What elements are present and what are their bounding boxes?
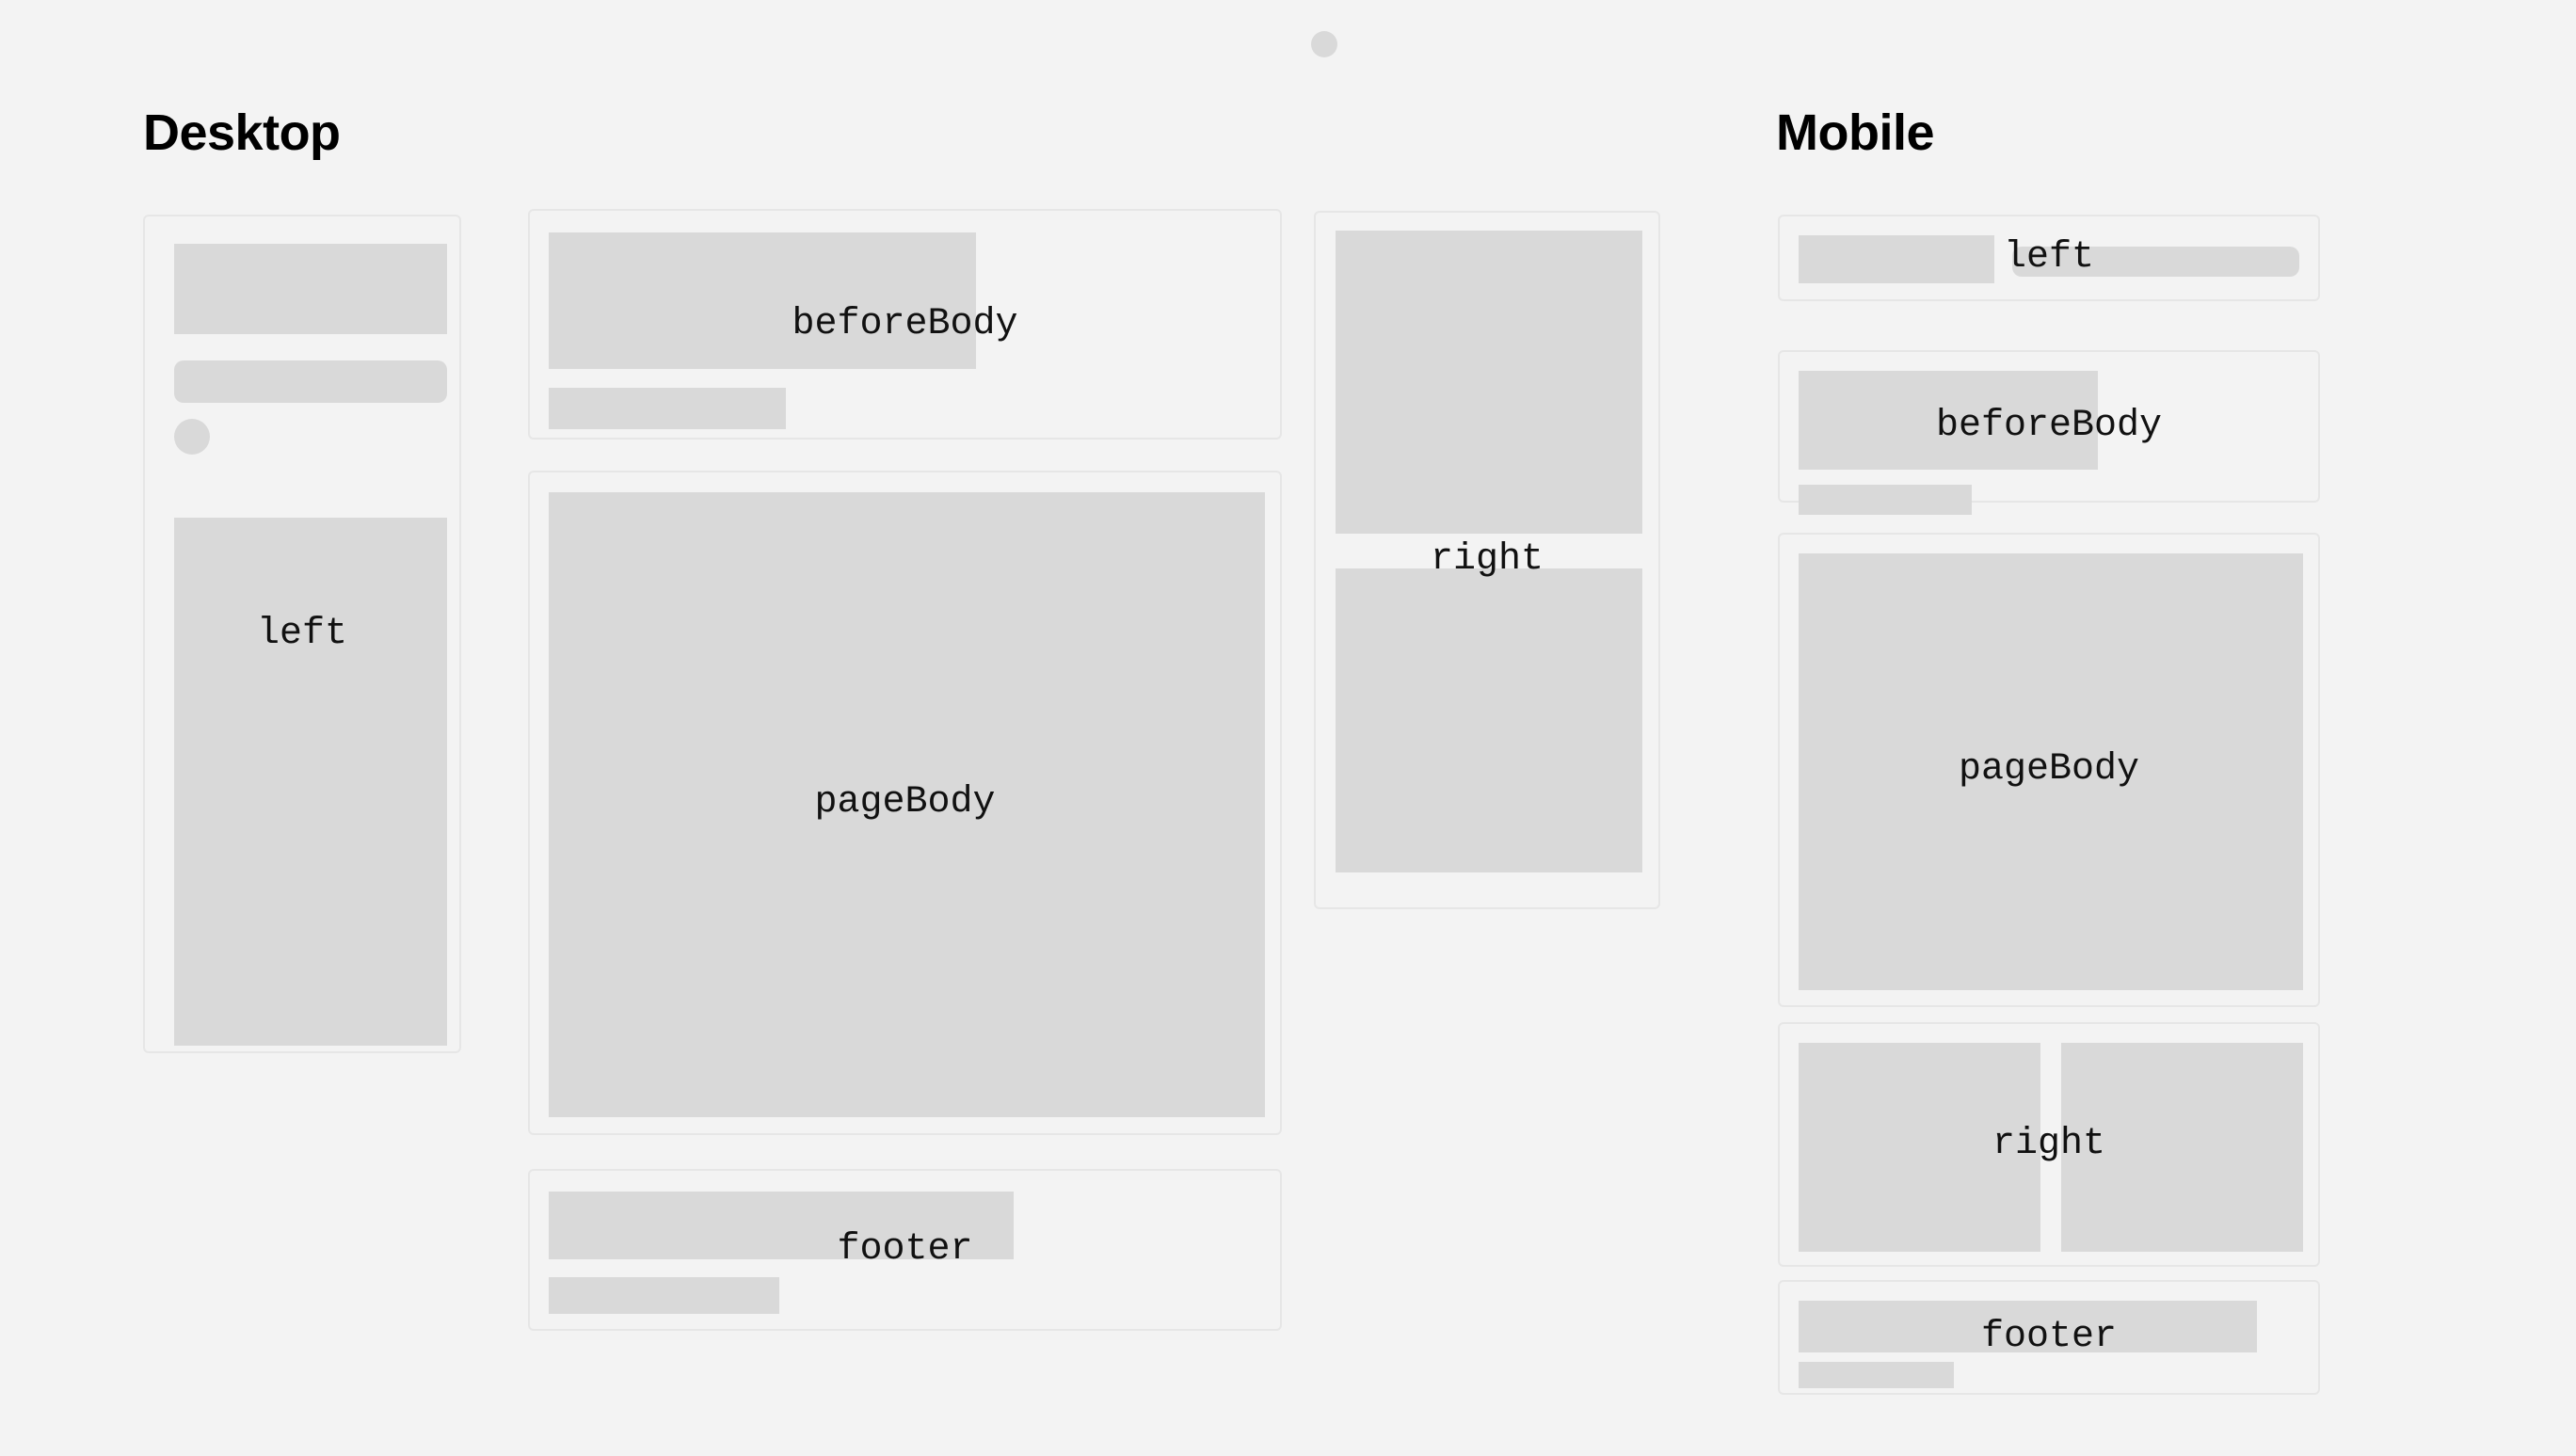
skeleton-block: [174, 244, 447, 334]
mobile-region-pagebody[interactable]: pageBody: [1778, 533, 2320, 1007]
mobile-section-title: Mobile: [1776, 107, 1934, 158]
mobile-region-footer[interactable]: footer: [1778, 1280, 2320, 1395]
mobile-region-right[interactable]: right: [1778, 1022, 2320, 1267]
desktop-region-left[interactable]: left: [143, 215, 461, 1053]
desktop-section-title: Desktop: [143, 107, 341, 158]
skeleton-avatar-circle: [1311, 31, 1337, 57]
skeleton-block: [549, 492, 1265, 1117]
skeleton-bar: [549, 1277, 779, 1314]
desktop-region-footer[interactable]: footer: [528, 1169, 1282, 1331]
skeleton-bar: [1799, 1362, 1954, 1388]
skeleton-block: [174, 518, 447, 1046]
desktop-region-pagebody[interactable]: pageBody: [528, 471, 1282, 1135]
desktop-region-beforebody[interactable]: beforeBody: [528, 209, 1282, 440]
desktop-region-right[interactable]: right: [1314, 211, 1660, 909]
skeleton-bar: [2012, 247, 2299, 277]
skeleton-block: [549, 1192, 1014, 1259]
skeleton-block: [1336, 568, 1642, 872]
skeleton-bar: [549, 388, 786, 429]
skeleton-block: [1799, 553, 2303, 990]
skeleton-bar: [1799, 485, 1972, 515]
skeleton-block: [1336, 231, 1642, 534]
skeleton-block: [1799, 1043, 2040, 1252]
skeleton-block: [2061, 1043, 2303, 1252]
skeleton-block: [549, 232, 976, 369]
mobile-region-left[interactable]: left: [1778, 215, 2320, 301]
skeleton-block: [1799, 1301, 2257, 1352]
skeleton-avatar-circle: [174, 419, 210, 455]
skeleton-block: [1799, 371, 2098, 470]
skeleton-block: [1799, 235, 1994, 283]
mobile-region-beforebody[interactable]: beforeBody: [1778, 350, 2320, 503]
skeleton-bar: [174, 360, 447, 403]
